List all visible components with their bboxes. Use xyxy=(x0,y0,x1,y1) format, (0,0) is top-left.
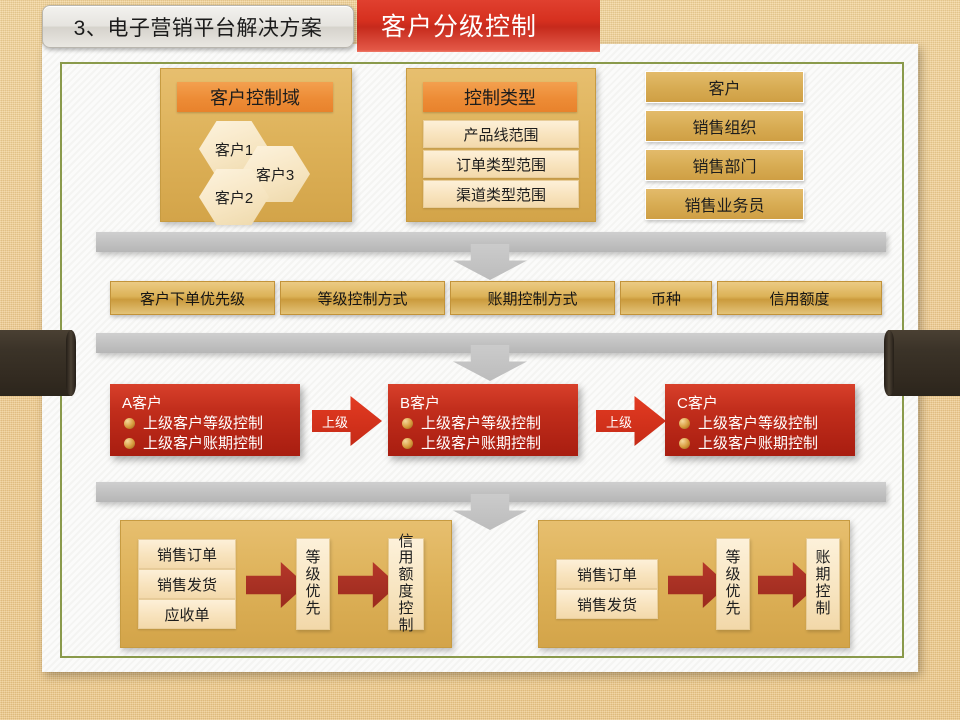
attr-button-0-label: 客户下单优先级 xyxy=(140,288,245,309)
attr-button-1-label: 等级控制方式 xyxy=(317,288,407,309)
hex-customer-3-label: 客户3 xyxy=(256,164,294,185)
customer-card-b-bullet-1: 上级客户账期控制 xyxy=(402,432,541,453)
ar-priority-label: 等级优先 xyxy=(725,550,740,617)
attr-button-0[interactable]: 客户下单优先级 xyxy=(110,281,275,315)
customer-card-c[interactable]: C客户 上级客户等级控制 上级客户账期控制 xyxy=(665,384,855,456)
right-ribbon-cap xyxy=(884,330,894,396)
left-ribbon-decoration xyxy=(0,330,72,396)
ar-doc-0[interactable]: 销售订单 xyxy=(556,559,658,589)
control-type-heading: 控制类型 xyxy=(423,82,577,112)
right-ribbon-decoration xyxy=(888,330,960,396)
attr-button-2-label: 账期控制方式 xyxy=(487,288,577,309)
customer-card-a-bullet-0: 上级客户等级控制 xyxy=(124,412,263,433)
control-type-row-1[interactable]: 订单类型范围 xyxy=(423,150,579,178)
hex-customer-2-label: 客户2 xyxy=(215,187,253,208)
attr-button-4[interactable]: 信用额度 xyxy=(717,281,882,315)
attr-button-3-label: 币种 xyxy=(651,288,681,309)
upper-arrow-2-label: 上级 xyxy=(606,412,632,431)
hex-customer-1-label: 客户1 xyxy=(215,139,253,160)
ar-priority-box: 等级优先 xyxy=(716,538,750,630)
org-list-item-3[interactable]: 销售业务员 xyxy=(645,188,804,220)
control-type-row-2[interactable]: 渠道类型范围 xyxy=(423,180,579,208)
org-list-item-1[interactable]: 销售组织 xyxy=(645,110,804,142)
bullet-sphere-icon xyxy=(402,418,413,429)
ar-doc-0-label: 销售订单 xyxy=(577,564,637,585)
customer-card-b-bullet-0: 上级客户等级控制 xyxy=(402,412,541,433)
org-list-item-3-label: 销售业务员 xyxy=(684,192,764,216)
bullet-sphere-icon xyxy=(679,418,690,429)
customer-card-c-bullet-1: 上级客户账期控制 xyxy=(679,432,818,453)
control-type-row-0-label: 产品线范围 xyxy=(463,124,538,145)
credit-doc-0[interactable]: 销售订单 xyxy=(138,539,236,569)
credit-priority-label: 等级优先 xyxy=(305,550,320,617)
upper-arrow-1-label: 上级 xyxy=(322,412,348,431)
customer-card-a[interactable]: A客户 上级客户等级控制 上级客户账期控制 xyxy=(110,384,300,456)
org-list-item-1-label: 销售组织 xyxy=(692,114,756,138)
section-tab-label: 3、电子营销平台解决方案 xyxy=(74,12,323,42)
ar-control-box: 账期控制 xyxy=(806,538,840,630)
customer-card-c-bullet-0: 上级客户等级控制 xyxy=(679,412,818,433)
bullet-sphere-icon xyxy=(124,418,135,429)
credit-doc-2-label: 应收单 xyxy=(164,604,209,625)
control-type-heading-label: 控制类型 xyxy=(464,84,536,110)
slide-title-bar: 客户分级控制 xyxy=(357,0,600,52)
attr-button-3[interactable]: 币种 xyxy=(620,281,712,315)
control-type-row-1-label: 订单类型范围 xyxy=(456,154,546,175)
control-type-row-0[interactable]: 产品线范围 xyxy=(423,120,579,148)
ar-doc-1-label: 销售发货 xyxy=(577,594,637,615)
credit-priority-box: 等级优先 xyxy=(296,538,330,630)
customer-card-a-title: A客户 xyxy=(122,392,162,413)
control-type-row-2-label: 渠道类型范围 xyxy=(456,184,546,205)
upper-arrow-1: 上级 xyxy=(312,396,382,446)
bullet-sphere-icon xyxy=(402,438,413,449)
org-list-item-2-label: 销售部门 xyxy=(692,153,756,177)
section-tab-chip[interactable]: 3、电子营销平台解决方案 xyxy=(42,5,354,48)
org-list-item-0-label: 客户 xyxy=(708,75,740,99)
customer-domain-heading: 客户控制域 xyxy=(177,82,333,112)
credit-doc-2[interactable]: 应收单 xyxy=(138,599,236,629)
attr-button-1[interactable]: 等级控制方式 xyxy=(280,281,445,315)
customer-card-b[interactable]: B客户 上级客户等级控制 上级客户账期控制 xyxy=(388,384,578,456)
bullet-sphere-icon xyxy=(124,438,135,449)
attr-button-4-label: 信用额度 xyxy=(769,288,829,309)
credit-limit-label: 信用额度控制 xyxy=(398,534,413,635)
customer-card-c-title: C客户 xyxy=(677,392,718,413)
credit-doc-0-label: 销售订单 xyxy=(157,544,217,565)
credit-doc-1[interactable]: 销售发货 xyxy=(138,569,236,599)
credit-doc-1-label: 销售发货 xyxy=(157,574,217,595)
org-list-item-2[interactable]: 销售部门 xyxy=(645,149,804,181)
bullet-sphere-icon xyxy=(679,438,690,449)
customer-card-a-bullet-1: 上级客户账期控制 xyxy=(124,432,263,453)
org-list-item-0[interactable]: 客户 xyxy=(645,71,804,103)
ar-doc-1[interactable]: 销售发货 xyxy=(556,589,658,619)
customer-domain-heading-label: 客户控制域 xyxy=(210,84,300,110)
attr-button-2[interactable]: 账期控制方式 xyxy=(450,281,615,315)
page-title: 客户分级控制 xyxy=(381,7,537,43)
left-ribbon-cap xyxy=(66,330,76,396)
ar-control-label: 账期控制 xyxy=(815,550,830,617)
customer-card-b-title: B客户 xyxy=(400,392,440,413)
upper-arrow-2: 上级 xyxy=(596,396,666,446)
credit-limit-box: 信用额度控制 xyxy=(388,538,424,630)
